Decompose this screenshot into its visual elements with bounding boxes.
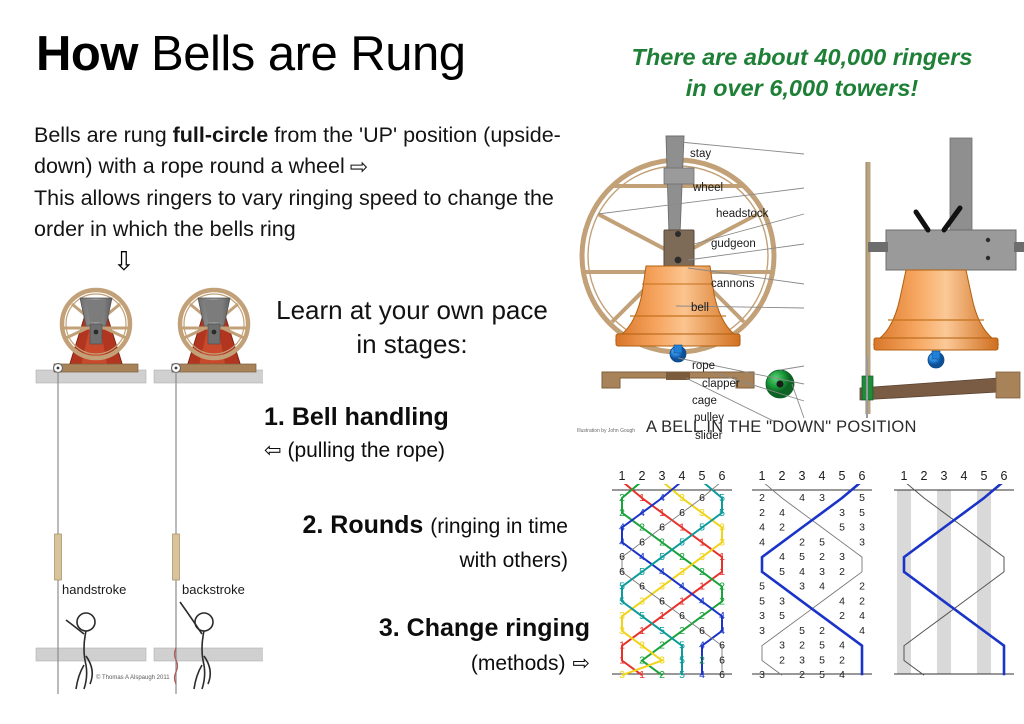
- svg-text:4: 4: [719, 610, 725, 622]
- svg-text:4: 4: [679, 581, 685, 593]
- svg-text:5: 5: [819, 654, 825, 666]
- svg-text:5: 5: [839, 522, 845, 534]
- stage-2-name: Rounds: [330, 511, 423, 539]
- svg-text:5: 5: [719, 492, 725, 504]
- svg-text:5: 5: [819, 536, 825, 548]
- method-3-header: 123456: [890, 468, 1018, 484]
- callout-line-2: in over 6,000 towers!: [596, 73, 1008, 104]
- svg-text:4: 4: [699, 640, 705, 652]
- svg-text:2: 2: [859, 581, 865, 593]
- method-column-header: 3: [659, 469, 666, 483]
- svg-text:2: 2: [819, 551, 825, 563]
- svg-text:5: 5: [619, 595, 625, 607]
- svg-text:5: 5: [699, 522, 705, 534]
- part-label-rope: rope: [692, 360, 715, 372]
- svg-text:2: 2: [719, 581, 725, 593]
- method-3-lines: [890, 484, 1018, 696]
- svg-text:5: 5: [619, 581, 625, 593]
- bell-diagram-caption: A BELL IN THE "DOWN" POSITION: [646, 418, 917, 437]
- stage-3-note: (methods): [471, 652, 566, 675]
- svg-text:6: 6: [639, 536, 645, 548]
- svg-text:3: 3: [759, 669, 765, 681]
- method-2-lines: 2435243542534253452354325342534235243524…: [748, 484, 876, 696]
- stage-item-change-ringing: 3. Change ringing (methods) ⇨: [300, 612, 590, 679]
- bell-rig-illustration: [28, 282, 263, 694]
- method-column-header: 3: [799, 469, 806, 483]
- method-column-header: 5: [699, 469, 706, 483]
- method-column-header: 3: [941, 469, 948, 483]
- svg-text:3: 3: [799, 581, 805, 593]
- svg-text:4: 4: [779, 551, 785, 563]
- stage-1-number: 1.: [264, 403, 285, 431]
- svg-text:1: 1: [639, 625, 645, 637]
- ringer-label-backstroke: backstroke: [182, 582, 245, 597]
- svg-text:6: 6: [699, 492, 705, 504]
- svg-text:2: 2: [839, 566, 845, 578]
- arrow-right-icon-methods: ⇨: [572, 652, 590, 675]
- svg-text:1: 1: [719, 566, 725, 578]
- svg-text:6: 6: [719, 654, 725, 666]
- svg-text:3: 3: [779, 640, 785, 652]
- svg-text:2: 2: [639, 522, 645, 534]
- intro-line2: This allows ringers to vary ringing spee…: [34, 183, 579, 244]
- svg-text:3: 3: [699, 551, 705, 563]
- svg-text:1: 1: [699, 536, 705, 548]
- svg-text:5: 5: [639, 566, 645, 578]
- svg-text:5: 5: [779, 610, 785, 622]
- svg-text:6: 6: [699, 625, 705, 637]
- svg-text:4: 4: [639, 507, 645, 519]
- svg-text:1: 1: [699, 581, 705, 593]
- svg-text:3: 3: [619, 669, 625, 681]
- svg-text:2: 2: [759, 492, 765, 504]
- svg-text:3: 3: [719, 536, 725, 548]
- part-label-bell: bell: [691, 302, 709, 314]
- svg-text:3: 3: [819, 492, 825, 504]
- svg-text:1: 1: [659, 610, 665, 622]
- ringers-stat-callout: There are about 40,000 ringers in over 6…: [596, 42, 1008, 104]
- svg-text:4: 4: [819, 581, 825, 593]
- stage-item-rounds: 2. Rounds (ringing in time with others): [288, 509, 568, 576]
- ringer-figure-backstroke: [180, 602, 213, 689]
- svg-text:6: 6: [639, 581, 645, 593]
- svg-text:5: 5: [759, 595, 765, 607]
- stage-item-bell-handling: 1. Bell handling ⇦ (pulling the rope): [264, 401, 554, 464]
- stage-1-name: Bell handling: [292, 403, 449, 431]
- svg-text:2: 2: [799, 640, 805, 652]
- svg-text:4: 4: [759, 522, 765, 534]
- svg-text:5: 5: [819, 640, 825, 652]
- method-column-header: 4: [819, 469, 826, 483]
- svg-text:6: 6: [619, 551, 625, 563]
- stage-3-number: 3.: [379, 614, 400, 642]
- svg-text:4: 4: [719, 625, 725, 637]
- callout-line-1: There are about 40,000 ringers: [596, 42, 1008, 73]
- svg-text:3: 3: [639, 640, 645, 652]
- svg-text:6: 6: [719, 640, 725, 652]
- method-column-header: 2: [639, 469, 646, 483]
- method-column-header: 4: [961, 469, 968, 483]
- svg-text:2: 2: [659, 536, 665, 548]
- svg-text:6: 6: [679, 507, 685, 519]
- svg-text:3: 3: [839, 551, 845, 563]
- svg-text:3: 3: [859, 522, 865, 534]
- method-1-header: 123456: [608, 468, 736, 484]
- bell-diagram-credit: Illustration by John Gough: [577, 428, 635, 434]
- svg-text:4: 4: [699, 595, 705, 607]
- svg-text:2: 2: [759, 507, 765, 519]
- svg-text:4: 4: [859, 625, 865, 637]
- svg-text:2: 2: [699, 654, 705, 666]
- part-label-wheel: wheel: [693, 182, 723, 194]
- method-column-header: 1: [759, 469, 766, 483]
- svg-text:1: 1: [719, 551, 725, 563]
- svg-text:6: 6: [619, 566, 625, 578]
- svg-text:4: 4: [699, 669, 705, 681]
- bell-anatomy-diagram: [568, 126, 1024, 422]
- svg-text:4: 4: [799, 492, 805, 504]
- part-label-stay: stay: [690, 148, 711, 160]
- svg-text:4: 4: [839, 595, 845, 607]
- part-label-clapper: clapper: [702, 378, 740, 390]
- part-label-headstock: headstock: [716, 208, 768, 220]
- bell-side-view: [860, 138, 1024, 418]
- svg-text:3: 3: [719, 522, 725, 534]
- svg-text:4: 4: [859, 610, 865, 622]
- svg-text:4: 4: [659, 566, 665, 578]
- svg-text:1: 1: [639, 669, 645, 681]
- stage-3-name: Change ringing: [407, 614, 590, 642]
- svg-text:6: 6: [679, 610, 685, 622]
- svg-text:1: 1: [639, 492, 645, 504]
- part-label-cannons: cannons: [711, 278, 754, 290]
- svg-text:3: 3: [699, 507, 705, 519]
- svg-text:3: 3: [679, 566, 685, 578]
- method-column-header: 5: [839, 469, 846, 483]
- intro-bold-full-circle: full-circle: [173, 123, 269, 147]
- svg-text:3: 3: [819, 566, 825, 578]
- method-2-header: 123456: [748, 468, 876, 484]
- method-column-header: 6: [859, 469, 866, 483]
- svg-text:4: 4: [759, 536, 765, 548]
- svg-text:2: 2: [779, 654, 785, 666]
- method-diagram-all-bells: 123456 214365241635426153462513645231654…: [608, 468, 736, 696]
- stage-1-note: (pulling the rope): [287, 439, 445, 462]
- svg-text:3: 3: [759, 625, 765, 637]
- svg-text:3: 3: [639, 595, 645, 607]
- method-column-header: 2: [779, 469, 786, 483]
- svg-text:5: 5: [759, 581, 765, 593]
- svg-text:4: 4: [839, 640, 845, 652]
- svg-text:2: 2: [619, 507, 625, 519]
- svg-text:3: 3: [779, 595, 785, 607]
- svg-text:1: 1: [659, 507, 665, 519]
- svg-text:5: 5: [859, 507, 865, 519]
- svg-text:5: 5: [799, 625, 805, 637]
- svg-text:2: 2: [659, 669, 665, 681]
- svg-text:2: 2: [719, 595, 725, 607]
- svg-text:2: 2: [679, 625, 685, 637]
- svg-text:3: 3: [659, 581, 665, 593]
- svg-text:6: 6: [719, 669, 725, 681]
- bell-rig-left: [54, 290, 139, 694]
- title-strong: How: [36, 27, 138, 81]
- svg-text:5: 5: [679, 669, 685, 681]
- svg-text:2: 2: [679, 551, 685, 563]
- svg-text:1: 1: [679, 522, 685, 534]
- intro-line1-pre: Bells are rung: [34, 123, 173, 147]
- svg-text:3: 3: [659, 654, 665, 666]
- method-column-header: 1: [619, 469, 626, 483]
- svg-text:2: 2: [619, 492, 625, 504]
- svg-text:3: 3: [859, 536, 865, 548]
- method-column-header: 6: [719, 469, 726, 483]
- method-diagram-path-only: 123456: [890, 468, 1018, 696]
- svg-text:4: 4: [619, 522, 625, 534]
- arrow-down-icon: ⇩: [113, 248, 135, 274]
- svg-text:6: 6: [659, 595, 665, 607]
- svg-text:3: 3: [679, 492, 685, 504]
- svg-text:5: 5: [639, 610, 645, 622]
- svg-text:1: 1: [679, 595, 685, 607]
- arrow-right-icon: ⇨: [350, 154, 368, 179]
- stage-2-note: (ringing in time with others): [430, 515, 568, 572]
- intro-paragraph: Bells are rung full-circle from the 'UP'…: [34, 120, 579, 244]
- svg-text:3: 3: [619, 625, 625, 637]
- svg-text:3: 3: [799, 654, 805, 666]
- svg-text:3: 3: [619, 610, 625, 622]
- method-column-header: 2: [921, 469, 928, 483]
- svg-text:5: 5: [659, 625, 665, 637]
- svg-text:5: 5: [799, 551, 805, 563]
- svg-text:5: 5: [679, 640, 685, 652]
- svg-text:4: 4: [619, 536, 625, 548]
- svg-text:3: 3: [839, 507, 845, 519]
- slide-root: How Bells are Rung Bells are rung full-c…: [0, 0, 1024, 724]
- title-normal: Bells are Rung: [138, 27, 466, 81]
- svg-text:5: 5: [719, 507, 725, 519]
- svg-text:3: 3: [759, 610, 765, 622]
- svg-text:2: 2: [639, 654, 645, 666]
- svg-text:4: 4: [799, 566, 805, 578]
- svg-text:2: 2: [859, 595, 865, 607]
- bell-front-view: [582, 136, 794, 398]
- method-column-header: 1: [901, 469, 908, 483]
- ringer-label-handstroke: handstroke: [62, 582, 126, 597]
- arrow-left-icon: ⇦: [264, 439, 282, 462]
- page-title: How Bells are Rung: [36, 28, 465, 81]
- svg-text:2: 2: [699, 610, 705, 622]
- svg-text:2: 2: [839, 610, 845, 622]
- svg-text:4: 4: [779, 507, 785, 519]
- method-column-header: 6: [1001, 469, 1008, 483]
- bell-rig-right: [172, 290, 257, 694]
- svg-text:2: 2: [839, 654, 845, 666]
- svg-text:5: 5: [859, 492, 865, 504]
- svg-text:2: 2: [819, 625, 825, 637]
- svg-text:2: 2: [699, 566, 705, 578]
- svg-text:2: 2: [799, 669, 805, 681]
- svg-text:2: 2: [659, 640, 665, 652]
- part-label-gudgeon: gudgeon: [711, 238, 756, 250]
- method-diagram-blue-line: 123456 243524354253425345235432534253423…: [748, 468, 876, 696]
- svg-text:1: 1: [619, 654, 625, 666]
- stage-2-number: 2.: [302, 511, 323, 539]
- svg-text:5: 5: [779, 566, 785, 578]
- svg-text:2: 2: [799, 536, 805, 548]
- svg-text:4: 4: [659, 492, 665, 504]
- svg-text:4: 4: [839, 669, 845, 681]
- ringer-illustration-credit: © Thomas A Alspaugh 2011: [96, 675, 170, 681]
- svg-text:2: 2: [779, 522, 785, 534]
- method-column-header: 5: [981, 469, 988, 483]
- svg-text:5: 5: [679, 536, 685, 548]
- svg-text:6: 6: [659, 522, 665, 534]
- svg-text:1: 1: [619, 640, 625, 652]
- stages-heading: Learn at your own pace in stages:: [276, 293, 548, 362]
- method-1-lines: 2143652416354261534625136452316543215634…: [608, 484, 736, 696]
- svg-text:5: 5: [679, 654, 685, 666]
- svg-text:4: 4: [639, 551, 645, 563]
- svg-text:5: 5: [819, 669, 825, 681]
- method-column-header: 4: [679, 469, 686, 483]
- part-label-cage: cage: [692, 395, 717, 407]
- svg-text:5: 5: [659, 551, 665, 563]
